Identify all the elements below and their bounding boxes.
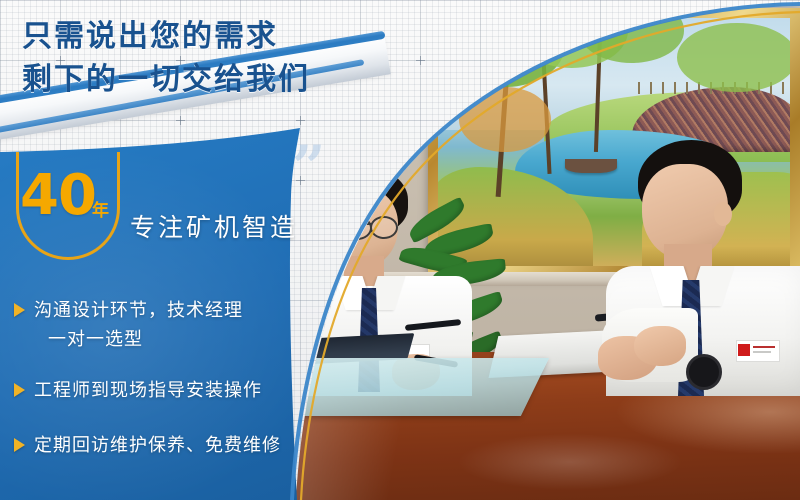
eyeglasses-right-lens [370,216,398,239]
right-man-hand-2 [634,326,686,366]
list-item: 定期回访维护保养、免费维修 [10,431,310,460]
list-item-text: 定期回访维护保养、免费维修 [34,431,310,460]
businessman-right [598,140,800,380]
list-item-text: 沟通设计环节，技术经理 一对一选型 [34,296,310,354]
promo-banner: ” 只需说出您的需求 剩下的一切交给我们 40 年 专注矿机智造 沟通设计环节，… [0,0,800,500]
list-item-line-1: 工程师到现场指导安装操作 [34,380,262,401]
anniversary-unit: 年 [92,203,109,220]
arrow-right-icon [14,303,25,317]
list-item-text: 工程师到现场指导安装操作 [34,376,310,405]
arrow-right-icon [14,383,25,397]
list-item: 工程师到现场指导安装操作 [10,376,310,405]
headline-line-2: 剩下的一切交给我们 [22,59,382,102]
arrow-right-icon [14,438,25,452]
feature-list: 沟通设计环节，技术经理 一对一选型 工程师到现场指导安装操作 定期回访维护保养、… [10,296,310,477]
sub-slogan: 专注矿机智造 [130,208,298,244]
list-item-line-2: 一对一选型 [34,325,310,354]
list-item-line-1: 定期回访维护保养、免费维修 [34,435,281,456]
wristwatch-icon [686,354,722,390]
list-item-line-1: 沟通设计环节，技术经理 [34,300,243,321]
list-item: 沟通设计环节，技术经理 一对一选型 [10,296,310,354]
painting-foliage-5 [677,23,790,92]
headline-line-1: 只需说出您的需求 [22,16,382,59]
headline-block: 只需说出您的需求 剩下的一切交给我们 [22,16,382,101]
anniversary-number: 40 [20,168,96,224]
quote-mark-decoration: ” [292,138,323,196]
